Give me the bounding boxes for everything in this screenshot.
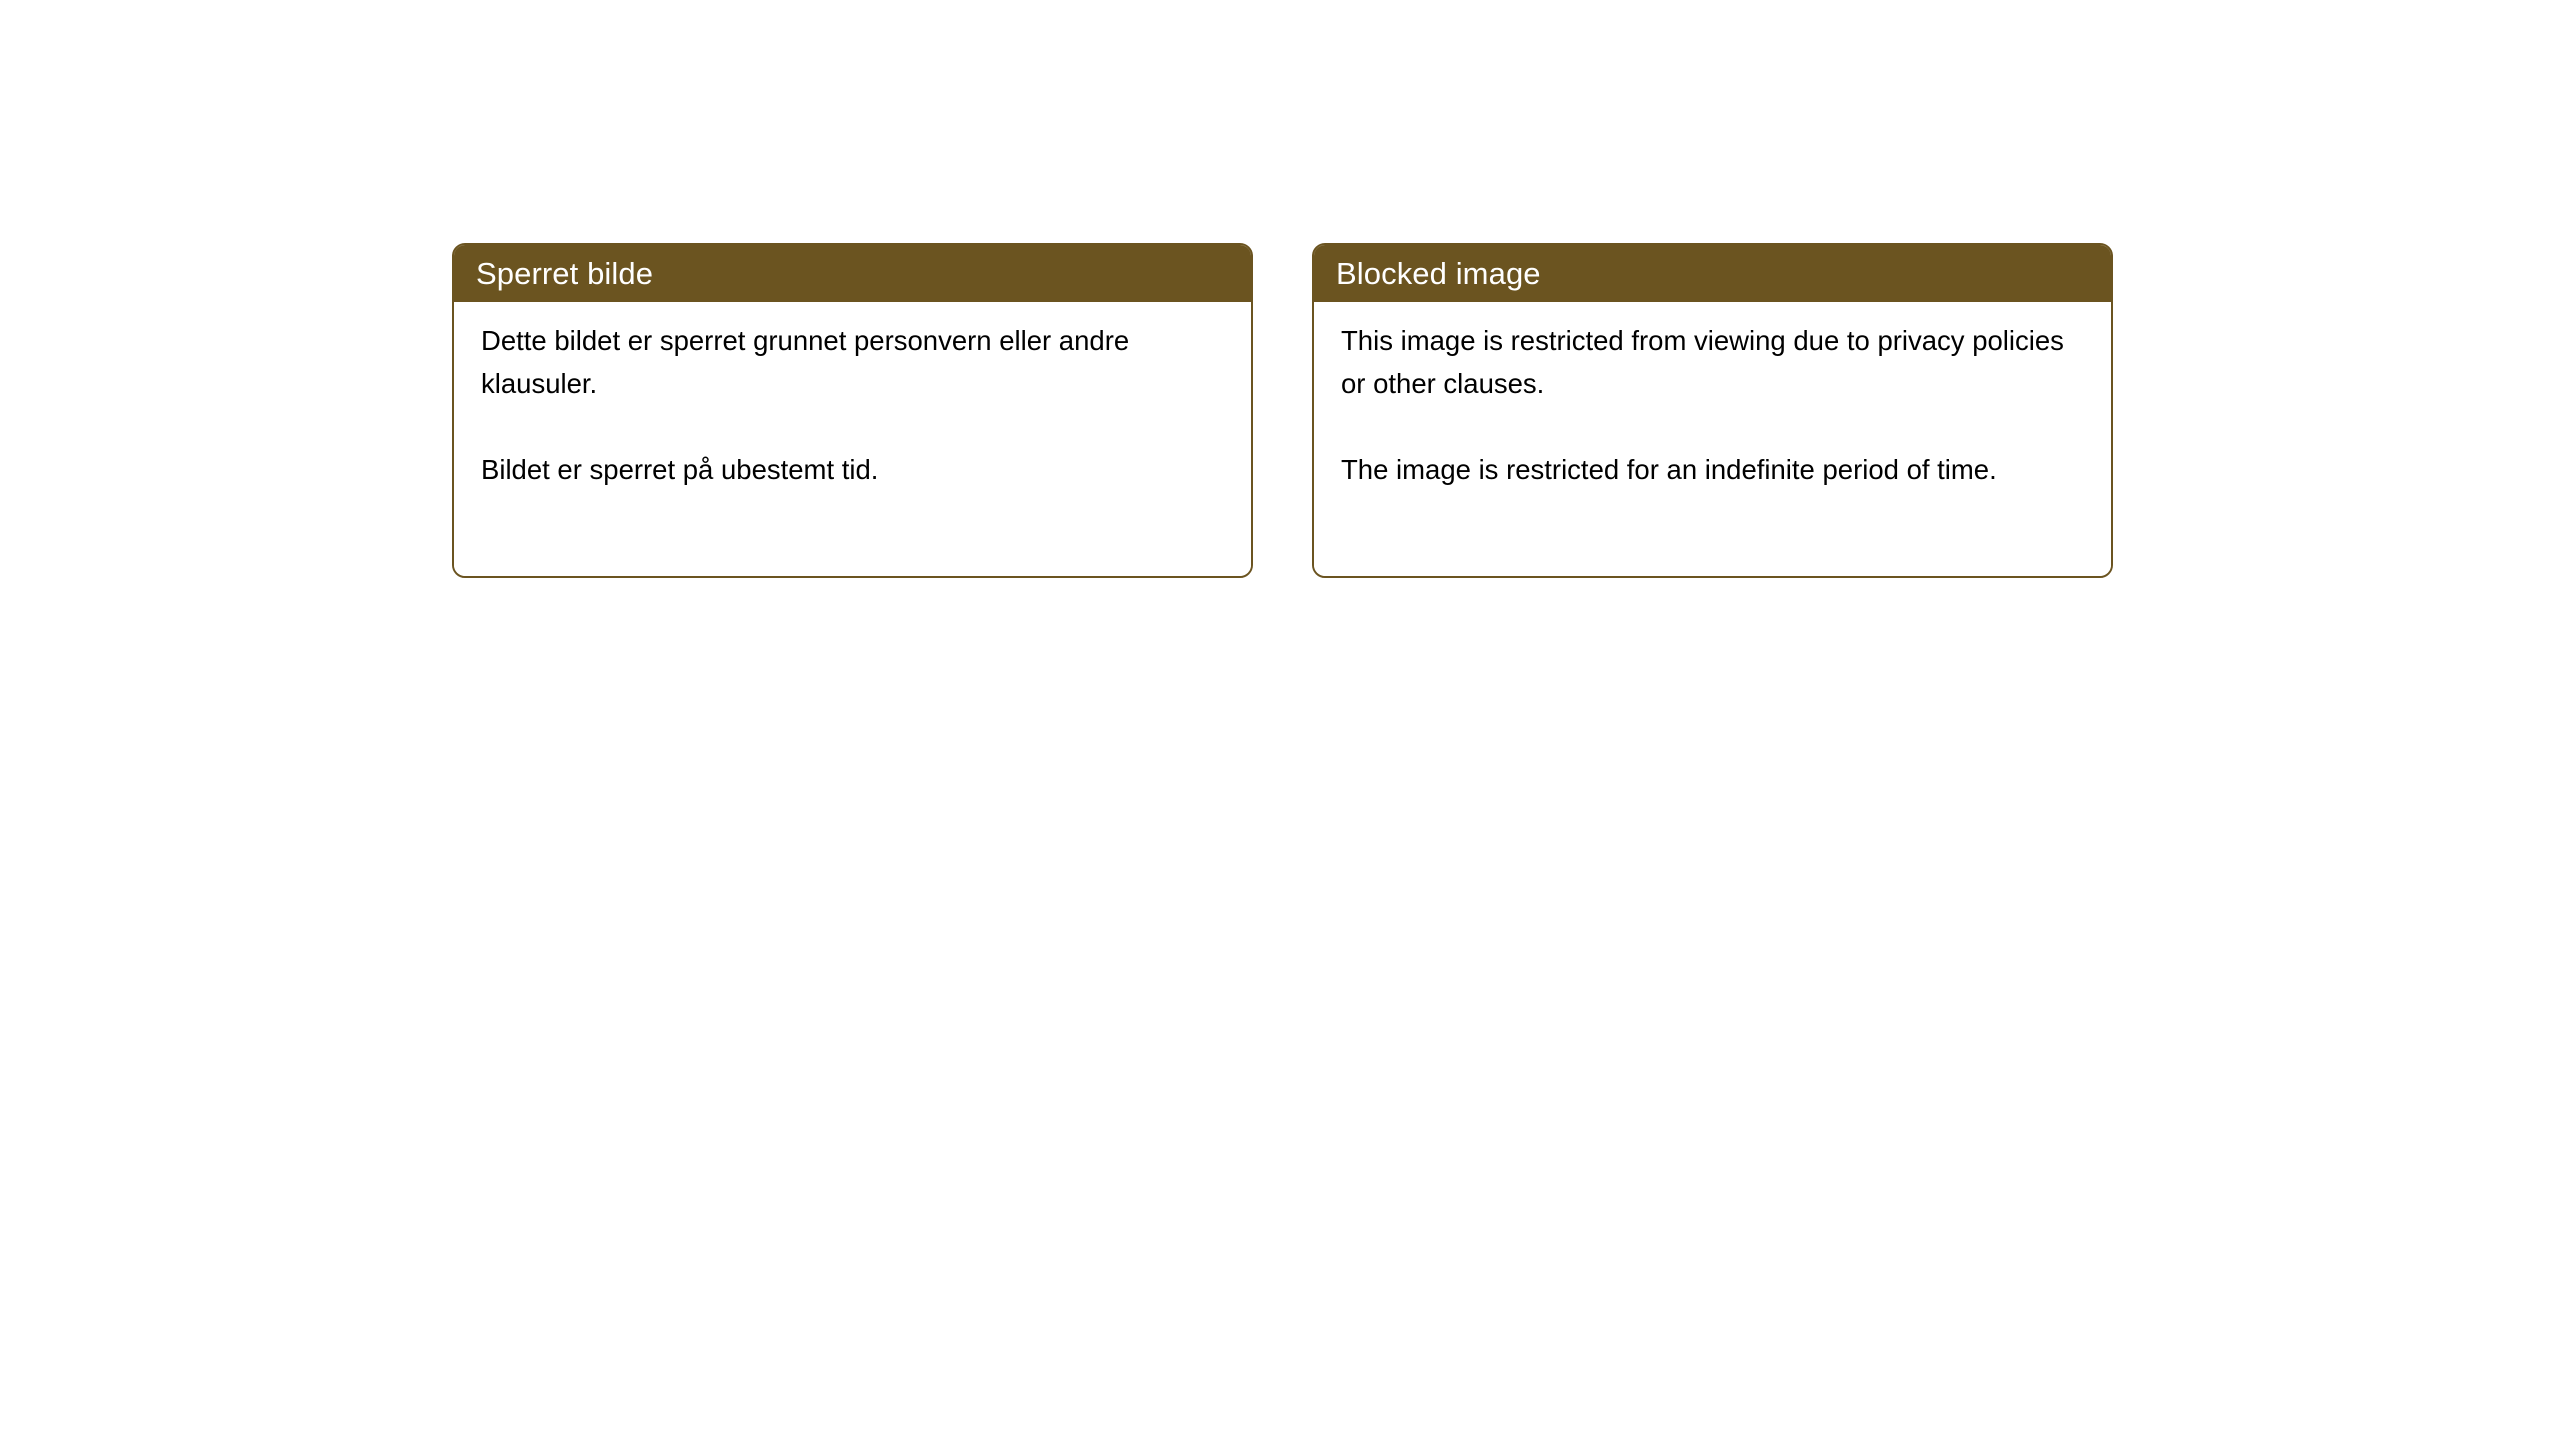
card-title-english: Blocked image — [1336, 258, 1541, 289]
card-header-norwegian: Sperret bilde — [454, 245, 1251, 302]
card-paragraph-norwegian-2: Bildet er sperret på ubestemt tid. — [481, 448, 1225, 491]
card-paragraph-norwegian-1: Dette bildet er sperret grunnet personve… — [481, 319, 1225, 405]
blocked-image-notice-card-norwegian: Sperret bilde Dette bildet er sperret gr… — [452, 243, 1253, 578]
card-body-norwegian: Dette bildet er sperret grunnet personve… — [454, 302, 1251, 576]
card-title-norwegian: Sperret bilde — [476, 258, 653, 289]
card-body-english: This image is restricted from viewing du… — [1314, 302, 2111, 576]
card-header-english: Blocked image — [1314, 245, 2111, 302]
blocked-image-notice-card-english: Blocked image This image is restricted f… — [1312, 243, 2113, 578]
card-paragraph-english-2: The image is restricted for an indefinit… — [1341, 448, 2085, 491]
card-paragraph-english-1: This image is restricted from viewing du… — [1341, 319, 2085, 405]
page-canvas: Sperret bilde Dette bildet er sperret gr… — [0, 0, 2560, 1440]
blocked-image-notice-group: Sperret bilde Dette bildet er sperret gr… — [452, 243, 2113, 578]
